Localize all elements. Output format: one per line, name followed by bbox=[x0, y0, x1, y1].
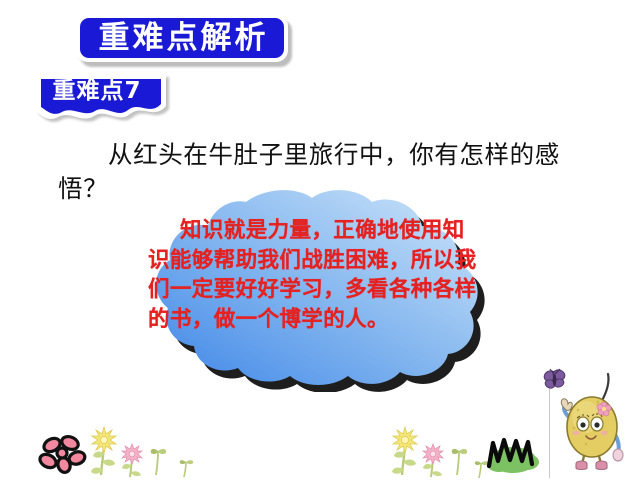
sub-banner: 重难点7 bbox=[36, 74, 158, 118]
grass-bush-icon bbox=[483, 428, 541, 478]
cartoon-bug-character-icon bbox=[556, 372, 630, 472]
title-banner-label: 重难点解析 bbox=[76, 14, 288, 62]
sprout-left-b-icon bbox=[177, 456, 197, 478]
pink-flower-large-icon bbox=[38, 432, 88, 478]
sprout-left-a-icon bbox=[148, 444, 170, 476]
sprout-right-a-icon bbox=[449, 444, 471, 476]
yellow-flower-left-icon bbox=[88, 425, 122, 477]
cloud-callout: 知识就是力量，正确地使用知识能够帮助我们战胜困难，所以我们一定要好好学习，多看各… bbox=[96, 186, 536, 392]
sub-banner-label: 重难点7 bbox=[36, 74, 158, 108]
pink-flower-small-left-icon bbox=[119, 443, 147, 479]
pink-flower-small-right-icon bbox=[420, 443, 448, 479]
cloud-text: 知识就是力量，正确地使用知识能够帮助我们战胜困难，所以我们一定要好好学习，多看各… bbox=[148, 216, 478, 334]
yellow-flower-right-icon bbox=[389, 425, 423, 477]
title-banner: 重难点解析 bbox=[76, 14, 288, 62]
